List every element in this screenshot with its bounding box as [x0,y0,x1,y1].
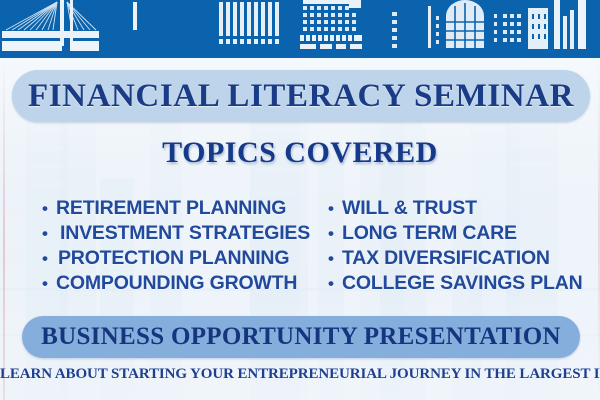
business-opportunity-label: BUSINESS OPPORTUNITY PRESENTATION [41,323,561,351]
list-item: • COLLEGE SAVINGS PLAN [328,271,600,296]
topic-label: INVESTMENT STRATEGIES [56,221,310,246]
bullet-icon: • [328,221,342,246]
bullet-icon: • [42,196,56,221]
seminar-title-banner: FINANCIAL LITERACY SEMINAR [12,70,590,122]
bullet-icon: • [42,271,56,296]
list-item: • PROTECTION PLANNING [42,246,314,271]
topics-covered-heading: TOPICS COVERED [0,136,600,170]
topic-label: RETIREMENT PLANNING [56,196,286,221]
topic-label: WILL & TRUST [342,196,477,221]
topics-columns: • RETIREMENT PLANNING • INVESTMENT STRAT… [0,196,600,300]
topic-label: TAX DIVERSIFICATION [342,246,550,271]
topic-label: PROTECTION PLANNING [56,246,289,271]
bullet-icon: • [42,246,56,271]
bullet-icon: • [328,196,342,221]
seminar-flyer: FINANCIAL LITERACY SEMINAR TOPICS COVERE… [0,0,600,400]
list-item: • COMPOUNDING GROWTH [42,271,314,296]
footer-tagline: LEARN ABOUT STARTING YOUR ENTREPRENEURIA… [0,366,600,383]
topics-right-column: • WILL & TRUST • LONG TERM CARE • TAX DI… [314,196,600,300]
topic-label: COLLEGE SAVINGS PLAN [342,271,583,296]
business-opportunity-banner: BUSINESS OPPORTUNITY PRESENTATION [22,316,580,358]
list-item: • INVESTMENT STRATEGIES [42,221,314,246]
bullet-icon: • [328,246,342,271]
bullet-icon: • [328,271,342,296]
list-item: • WILL & TRUST [328,196,600,221]
list-item: • RETIREMENT PLANNING [42,196,314,221]
city-skyline-icon [0,0,600,58]
bullet-icon: • [42,221,56,246]
topic-label: COMPOUNDING GROWTH [56,271,297,296]
skyline-header-band [0,0,600,58]
list-item: • TAX DIVERSIFICATION [328,246,600,271]
list-item: • LONG TERM CARE [328,221,600,246]
page-title: FINANCIAL LITERACY SEMINAR [28,78,574,115]
topic-label: LONG TERM CARE [342,221,517,246]
topics-left-column: • RETIREMENT PLANNING • INVESTMENT STRAT… [0,196,314,300]
